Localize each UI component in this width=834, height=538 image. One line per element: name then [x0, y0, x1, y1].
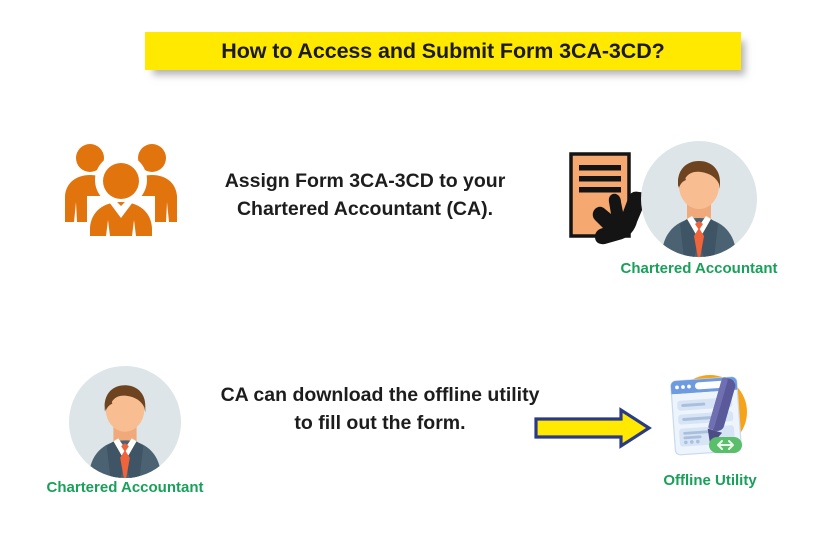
page-title: How to Access and Submit Form 3CA-3CD? [221, 39, 664, 64]
step-1-right-caption: Chartered Accountant [599, 260, 799, 277]
accountant-avatar-row-1 [640, 140, 758, 258]
title-banner: How to Access and Submit Form 3CA-3CD? [145, 32, 741, 70]
step-1-text-line-2: Chartered Accountant (CA). [200, 196, 530, 224]
offline-utility-icon [655, 363, 757, 465]
right-arrow-icon [533, 407, 653, 449]
step-2-text-line-2: to fill out the form. [200, 410, 560, 438]
step-2-text-line-1: CA can download the offline utility [200, 382, 560, 410]
step-2-text: CA can download the offline utility to f… [200, 382, 560, 437]
group-people-icon [60, 136, 182, 236]
accountant-avatar-row-2 [68, 365, 182, 479]
step-1-text-line-1: Assign Form 3CA-3CD to your [200, 168, 530, 196]
step-2-left-caption: Chartered Accountant [25, 479, 225, 496]
step-2-right-caption: Offline Utility [625, 472, 795, 489]
step-1-text: Assign Form 3CA-3CD to your Chartered Ac… [200, 168, 530, 223]
